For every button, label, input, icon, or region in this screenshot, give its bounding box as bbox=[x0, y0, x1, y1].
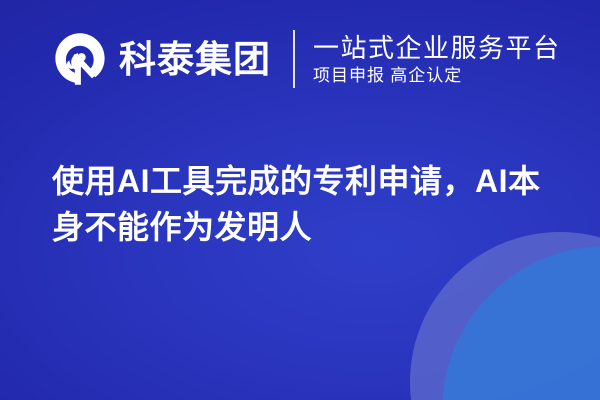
ketai-circular-logo-icon bbox=[52, 31, 108, 87]
promo-banner: 科泰集团 一站式企业服务平台 项目申报 高企认定 使用AI工具完成的专利申请，A… bbox=[0, 0, 600, 400]
tagline-sub: 项目申报 高企认定 bbox=[313, 66, 561, 86]
header-divider bbox=[293, 30, 295, 88]
headline-text: 使用AI工具完成的专利申请，AI本身不能作为发明人 bbox=[52, 158, 564, 250]
decorative-arc-back bbox=[410, 232, 600, 400]
banner-header: 科泰集团 一站式企业服务平台 项目申报 高企认定 bbox=[52, 26, 561, 92]
tagline-main: 一站式企业服务平台 bbox=[313, 33, 561, 63]
tagline-block: 一站式企业服务平台 项目申报 高企认定 bbox=[313, 33, 561, 86]
brand-name: 科泰集团 bbox=[119, 41, 271, 78]
decorative-arc-front bbox=[442, 246, 600, 400]
